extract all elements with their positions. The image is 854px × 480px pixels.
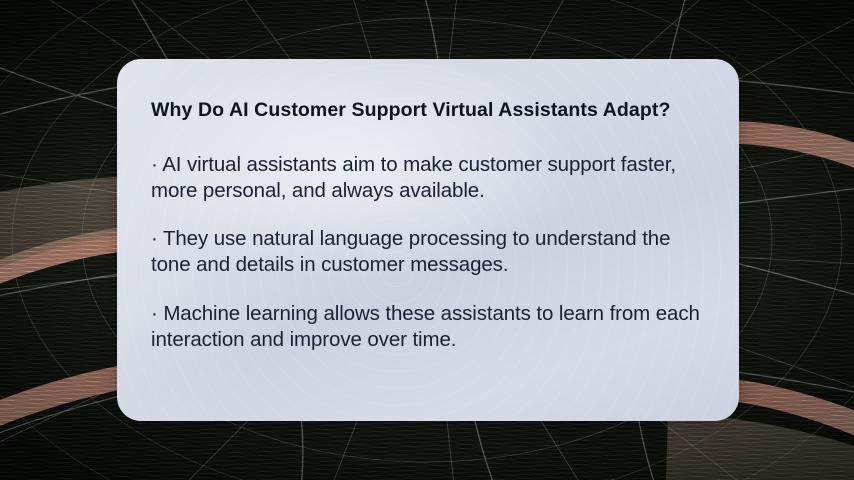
content-card: Why Do AI Customer Support Virtual Assis… — [117, 59, 739, 421]
slide-heading: Why Do AI Customer Support Virtual Assis… — [151, 99, 705, 122]
bullet-point-1: · AI virtual assistants aim to make cust… — [151, 152, 705, 204]
slide-canvas: Why Do AI Customer Support Virtual Assis… — [0, 0, 854, 480]
bullet-point-3: · Machine learning allows these assistan… — [151, 301, 705, 353]
bullet-point-2: · They use natural language processing t… — [151, 226, 705, 278]
